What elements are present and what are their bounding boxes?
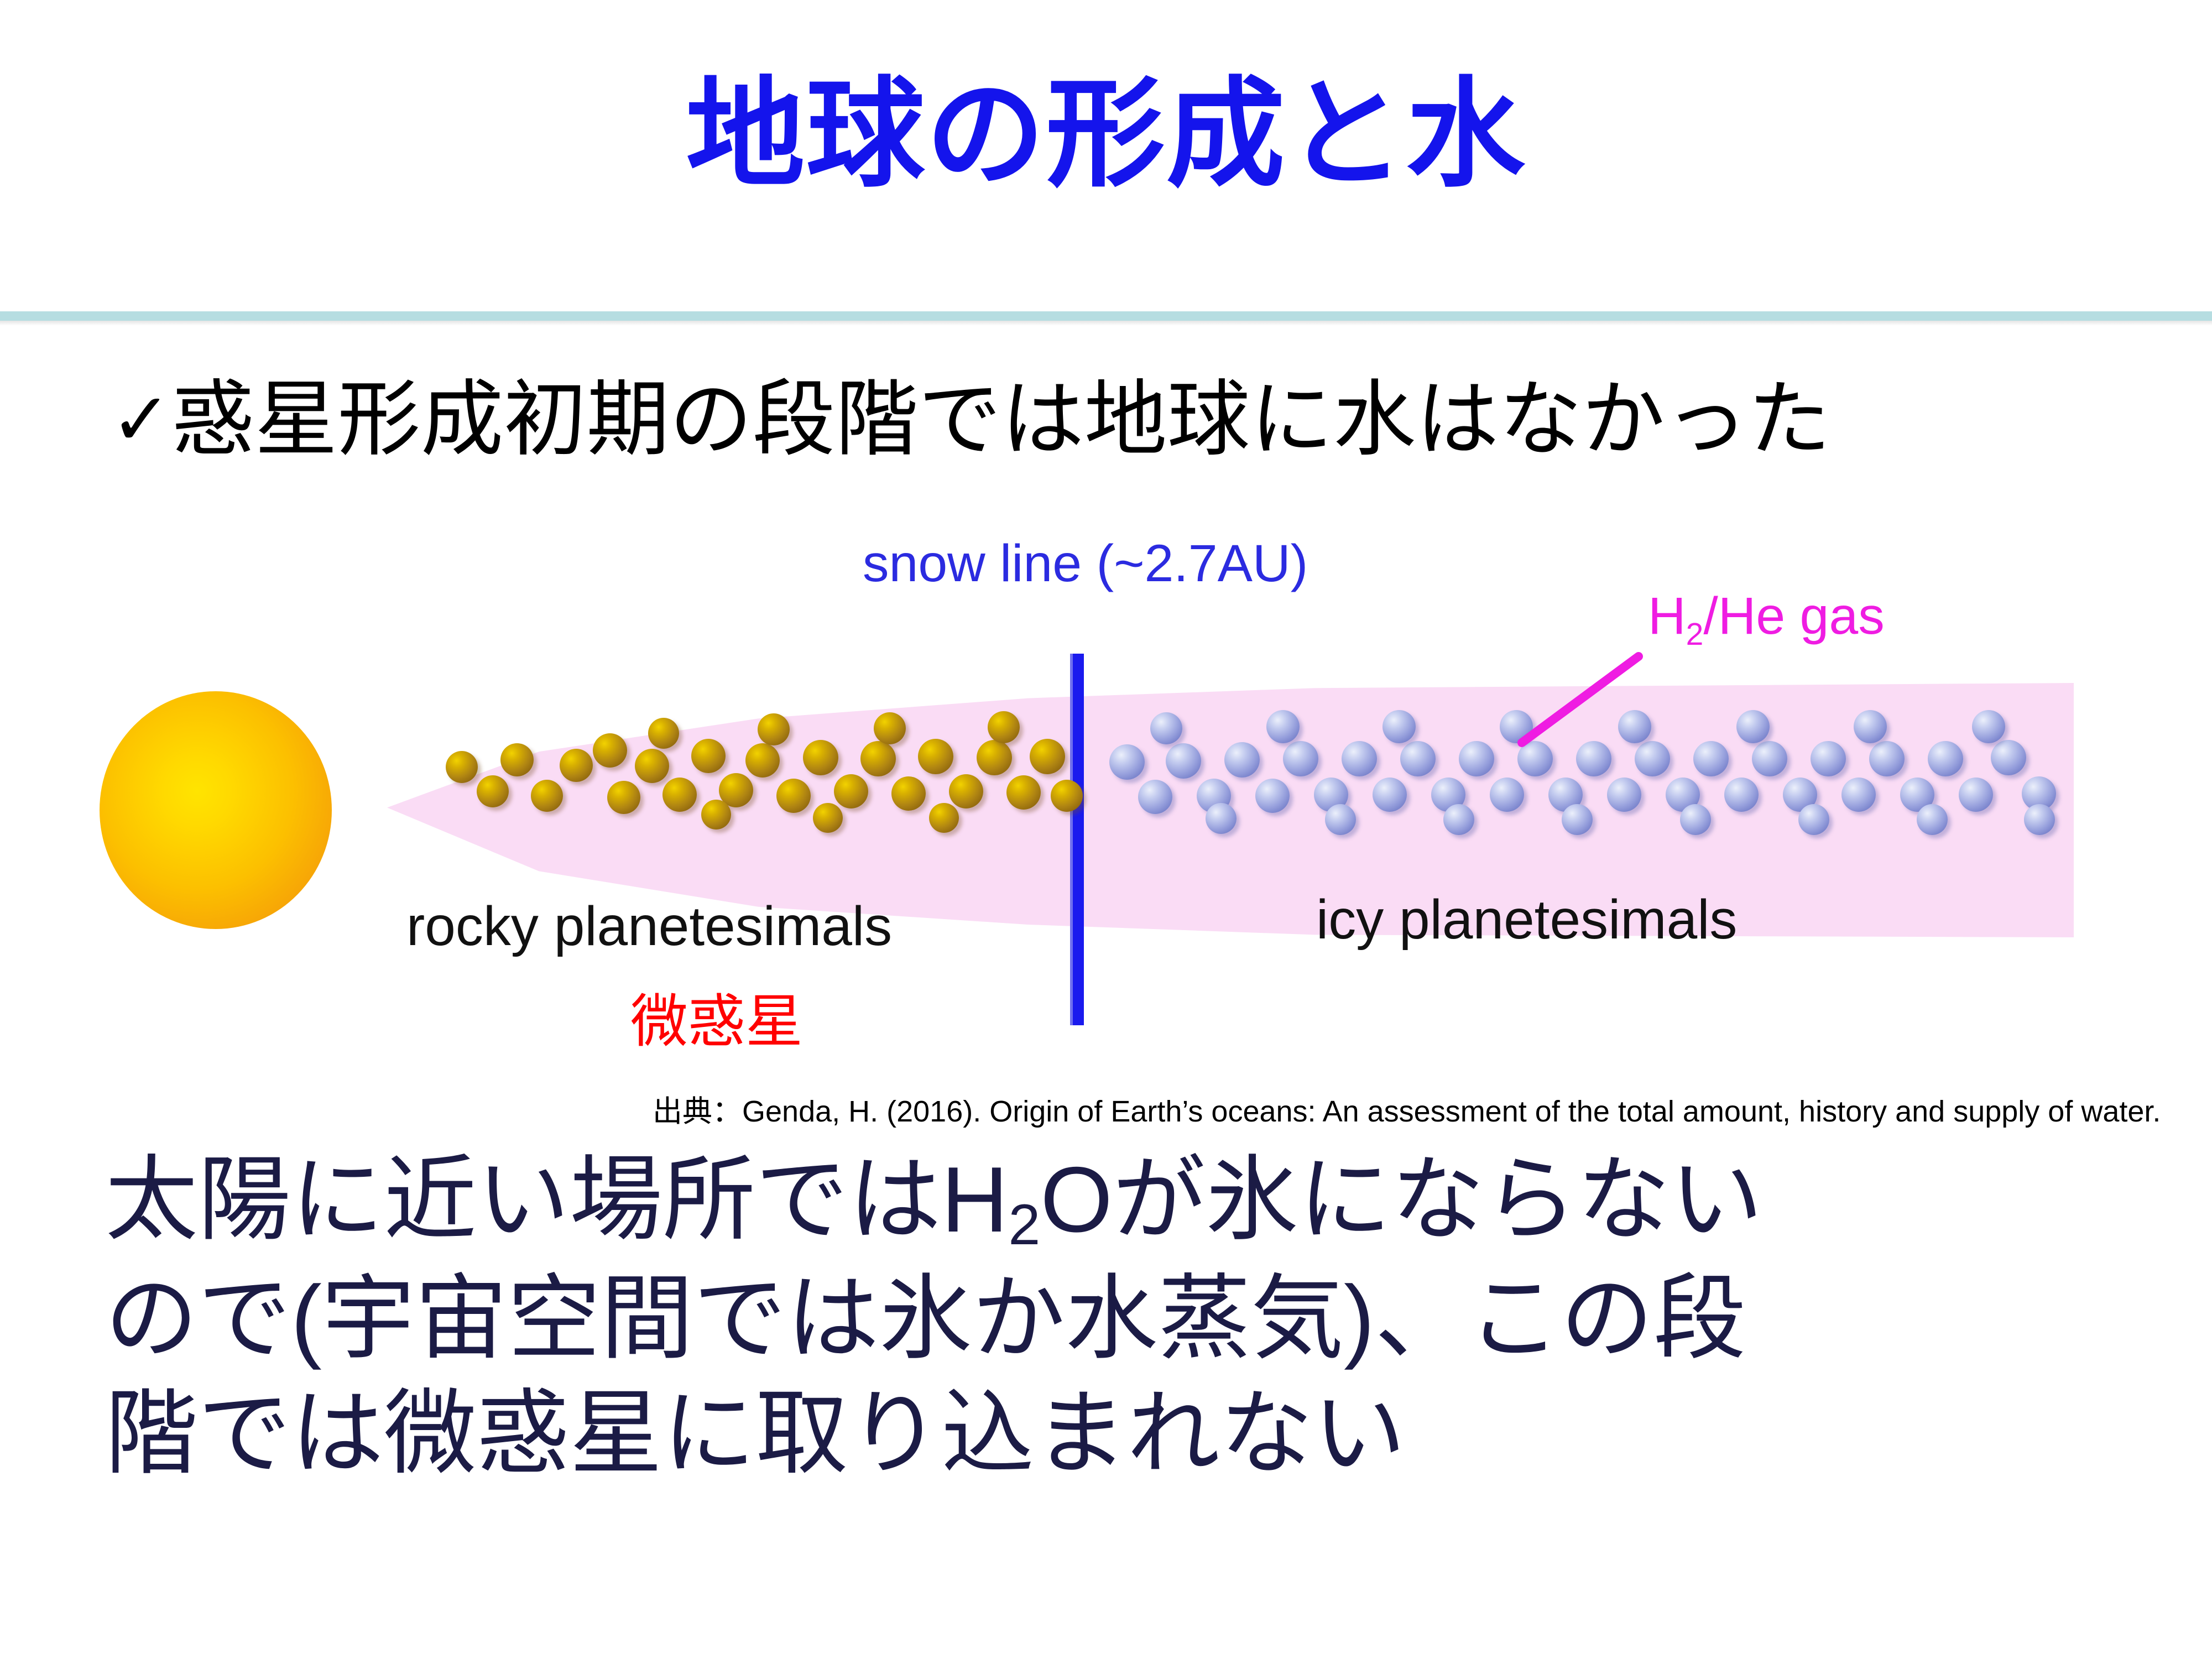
bottom-paragraph: 太陽に近い場所ではH2Oが氷にならない ので(宇宙空間では氷か水蒸気)、この段 …: [105, 1142, 2162, 1491]
icy-planetesimals-label: icy planetesimals: [1316, 888, 1737, 952]
rocky-planetesimal: [803, 740, 838, 775]
bullet-text: 惑星形成初期の段階では地球に水はなかった: [172, 373, 1831, 466]
icy-planetesimal: [1283, 741, 1318, 776]
rocky-planetesimal: [691, 739, 726, 773]
rocky-planetesimal: [1030, 739, 1065, 774]
bullet-line: ✓惑星形成初期の段階では地球に水はなかった: [111, 372, 2157, 467]
rocky-planetesimal: [949, 774, 983, 808]
rocky-planetesimal: [662, 778, 697, 812]
icy-planetesimal: [1693, 741, 1729, 776]
rocky-planetesimal: [560, 749, 593, 782]
rocky-planetesimal: [745, 743, 780, 778]
icy-planetesimal: [1972, 710, 2005, 743]
icy-planetesimal: [1266, 710, 1300, 743]
rocky-planetesimal: [1006, 775, 1041, 810]
paragraph-line-3: 階では微惑星に取り込まれない: [105, 1376, 2162, 1491]
rocky-planetesimal: [988, 711, 1020, 743]
rocky-planetesimal: [860, 741, 896, 776]
rocky-planetesimal: [1051, 780, 1083, 812]
icy-planetesimal: [1400, 741, 1436, 776]
check-icon: ✓: [111, 379, 172, 460]
sun-icon: [100, 691, 332, 929]
title-divider: [0, 311, 2212, 321]
icy-planetesimal: [1959, 778, 1993, 812]
icy-planetesimal: [1206, 803, 1237, 834]
icy-planetesimal: [1490, 778, 1524, 812]
icy-planetesimal: [1869, 741, 1905, 776]
microplanet-label: 微惑星: [630, 974, 803, 1058]
gas-label: H2/He gas: [1648, 586, 1885, 653]
gas-leader-line: [1515, 650, 1645, 749]
icy-planetesimal: [1383, 710, 1416, 743]
icy-planetesimal: [1138, 780, 1172, 814]
rocky-planetesimal: [701, 800, 731, 830]
icy-planetesimal: [1325, 804, 1356, 835]
icy-planetesimal: [1811, 741, 1846, 776]
paragraph-line-2: ので(宇宙空間では氷か水蒸気)、この段: [105, 1261, 2162, 1376]
rocky-planetesimals-label: rocky planetesimals: [406, 895, 892, 958]
citation-text: 出典：Genda, H. (2016). Origin of Earth’s o…: [653, 1087, 2161, 1130]
snow-line-label: snow line (~2.7AU): [863, 534, 1308, 594]
icy-planetesimal: [1443, 804, 1474, 835]
rocky-planetesimal: [446, 751, 478, 783]
title-divider-shadow: [0, 321, 2212, 326]
icy-planetesimal: [1150, 712, 1182, 744]
rocky-planetesimal: [834, 774, 868, 808]
rocky-planetesimal: [874, 712, 906, 744]
icy-planetesimal: [1373, 778, 1407, 812]
rocky-planetesimal: [648, 718, 679, 749]
icy-planetesimal: [1166, 743, 1201, 779]
icy-planetesimal: [2024, 804, 2055, 835]
rocky-planetesimal: [929, 803, 959, 833]
rocky-planetesimal: [891, 776, 926, 811]
gas-label-subscript: 2: [1686, 617, 1704, 652]
page-title: 地球の形成と水: [0, 72, 2212, 197]
rocky-planetesimal: [477, 775, 509, 807]
icy-planetesimal: [1854, 710, 1887, 743]
rocky-planetesimal: [593, 733, 627, 768]
rocky-planetesimal: [531, 780, 563, 812]
icy-planetesimal: [1991, 740, 2026, 775]
rocky-planetesimal: [813, 803, 843, 833]
gas-label-suffix: /He gas: [1703, 587, 1884, 645]
snow-line-marker: [1073, 654, 1084, 1025]
icy-planetesimal: [1736, 710, 1770, 743]
paragraph-line-1-subscript: 2: [1008, 1193, 1040, 1257]
icy-planetesimal: [1928, 741, 1963, 776]
icy-planetesimal: [1109, 744, 1145, 780]
icy-planetesimal: [1917, 804, 1948, 835]
icy-planetesimal: [1562, 804, 1593, 835]
gas-label-prefix: H: [1648, 587, 1686, 645]
rocky-planetesimal: [500, 743, 534, 776]
rocky-planetesimal: [607, 781, 640, 814]
rocky-planetesimal: [635, 749, 669, 783]
paragraph-line-1: 太陽に近い場所ではH2Oが氷にならない: [105, 1142, 2162, 1261]
icy-planetesimal: [1224, 742, 1260, 778]
icy-planetesimal: [1459, 741, 1494, 776]
icy-planetesimal: [1342, 741, 1377, 776]
rocky-planetesimal: [918, 739, 953, 774]
icy-planetesimal: [1680, 804, 1711, 835]
icy-planetesimal: [1607, 778, 1641, 812]
paragraph-line-1-part-b: Oが氷にならない: [1040, 1147, 1763, 1251]
rocky-planetesimal: [758, 713, 790, 745]
icy-planetesimal: [1798, 804, 1829, 835]
rocky-planetesimal: [776, 779, 811, 813]
icy-planetesimal: [1255, 779, 1290, 813]
rocky-planetesimal: [977, 740, 1012, 775]
icy-planetesimal: [1841, 778, 1876, 812]
paragraph-line-1-part-a: 太陽に近い場所ではH: [105, 1147, 1008, 1251]
icy-planetesimal: [1724, 778, 1759, 812]
icy-planetesimal: [1752, 741, 1787, 776]
